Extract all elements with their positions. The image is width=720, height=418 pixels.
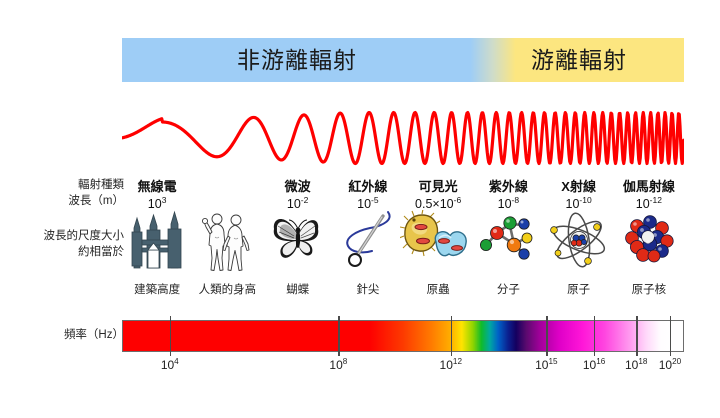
row-label-frequency: 頻率（Hz） <box>36 328 124 343</box>
frequency-tick-label: 1015 <box>535 358 557 372</box>
frequency-tick-label: 1020 <box>659 358 681 372</box>
frequency-tick <box>636 316 637 356</box>
icon-cell-nucleus-icon <box>601 210 697 280</box>
band-8: 伽馬射線10-12 <box>601 176 697 211</box>
frequency-tick <box>670 316 671 356</box>
frequency-tick <box>546 316 547 356</box>
scale-label-line1: 波長的尺度大小 <box>16 228 124 244</box>
band-wavelength: 10-12 <box>601 197 697 211</box>
frequency-tick-label: 1016 <box>583 358 605 372</box>
human-figures-icon <box>198 210 256 272</box>
band-1: 無線電103 <box>109 176 205 211</box>
band-wavelength: 103 <box>109 197 205 211</box>
spectrum-gradient <box>122 320 684 352</box>
banner-label-ionizing: 游離輻射 <box>474 38 684 82</box>
banner-label-non-ionizing: 非游離輻射 <box>122 38 472 82</box>
frequency-tick <box>451 316 452 356</box>
frequency-tick-label: 104 <box>161 358 179 372</box>
frequency-tick-label: 1012 <box>440 358 462 372</box>
frequency-tick-label: 1018 <box>625 358 647 372</box>
row-label-scale-comparison: 波長的尺度大小 約相當於 <box>16 228 124 260</box>
frequency-tick <box>170 316 171 356</box>
frequency-tick <box>338 316 339 356</box>
nucleus-icon <box>620 210 678 268</box>
radiation-category-banner: 非游離輻射 游離輻射 <box>122 38 684 82</box>
skyscraper-icon <box>128 210 186 272</box>
frequency-tick-label: 108 <box>329 358 347 372</box>
comparison-caption: 原子核 <box>601 281 697 297</box>
frequency-tick <box>594 316 595 356</box>
frequency-spectrum-bar <box>122 320 684 352</box>
band-name: 無線電 <box>109 176 205 195</box>
butterfly-icon <box>269 210 327 268</box>
em-spectrum-figure: 非游離輻射 游離輻射 輻射種類 波長（m） 波長的尺度大小 約相當於 頻率（Hz… <box>0 0 720 418</box>
band-name: 伽馬射線 <box>601 176 697 195</box>
scale-label-line2: 約相當於 <box>16 244 124 260</box>
frequency-wave-graphic <box>122 100 684 176</box>
